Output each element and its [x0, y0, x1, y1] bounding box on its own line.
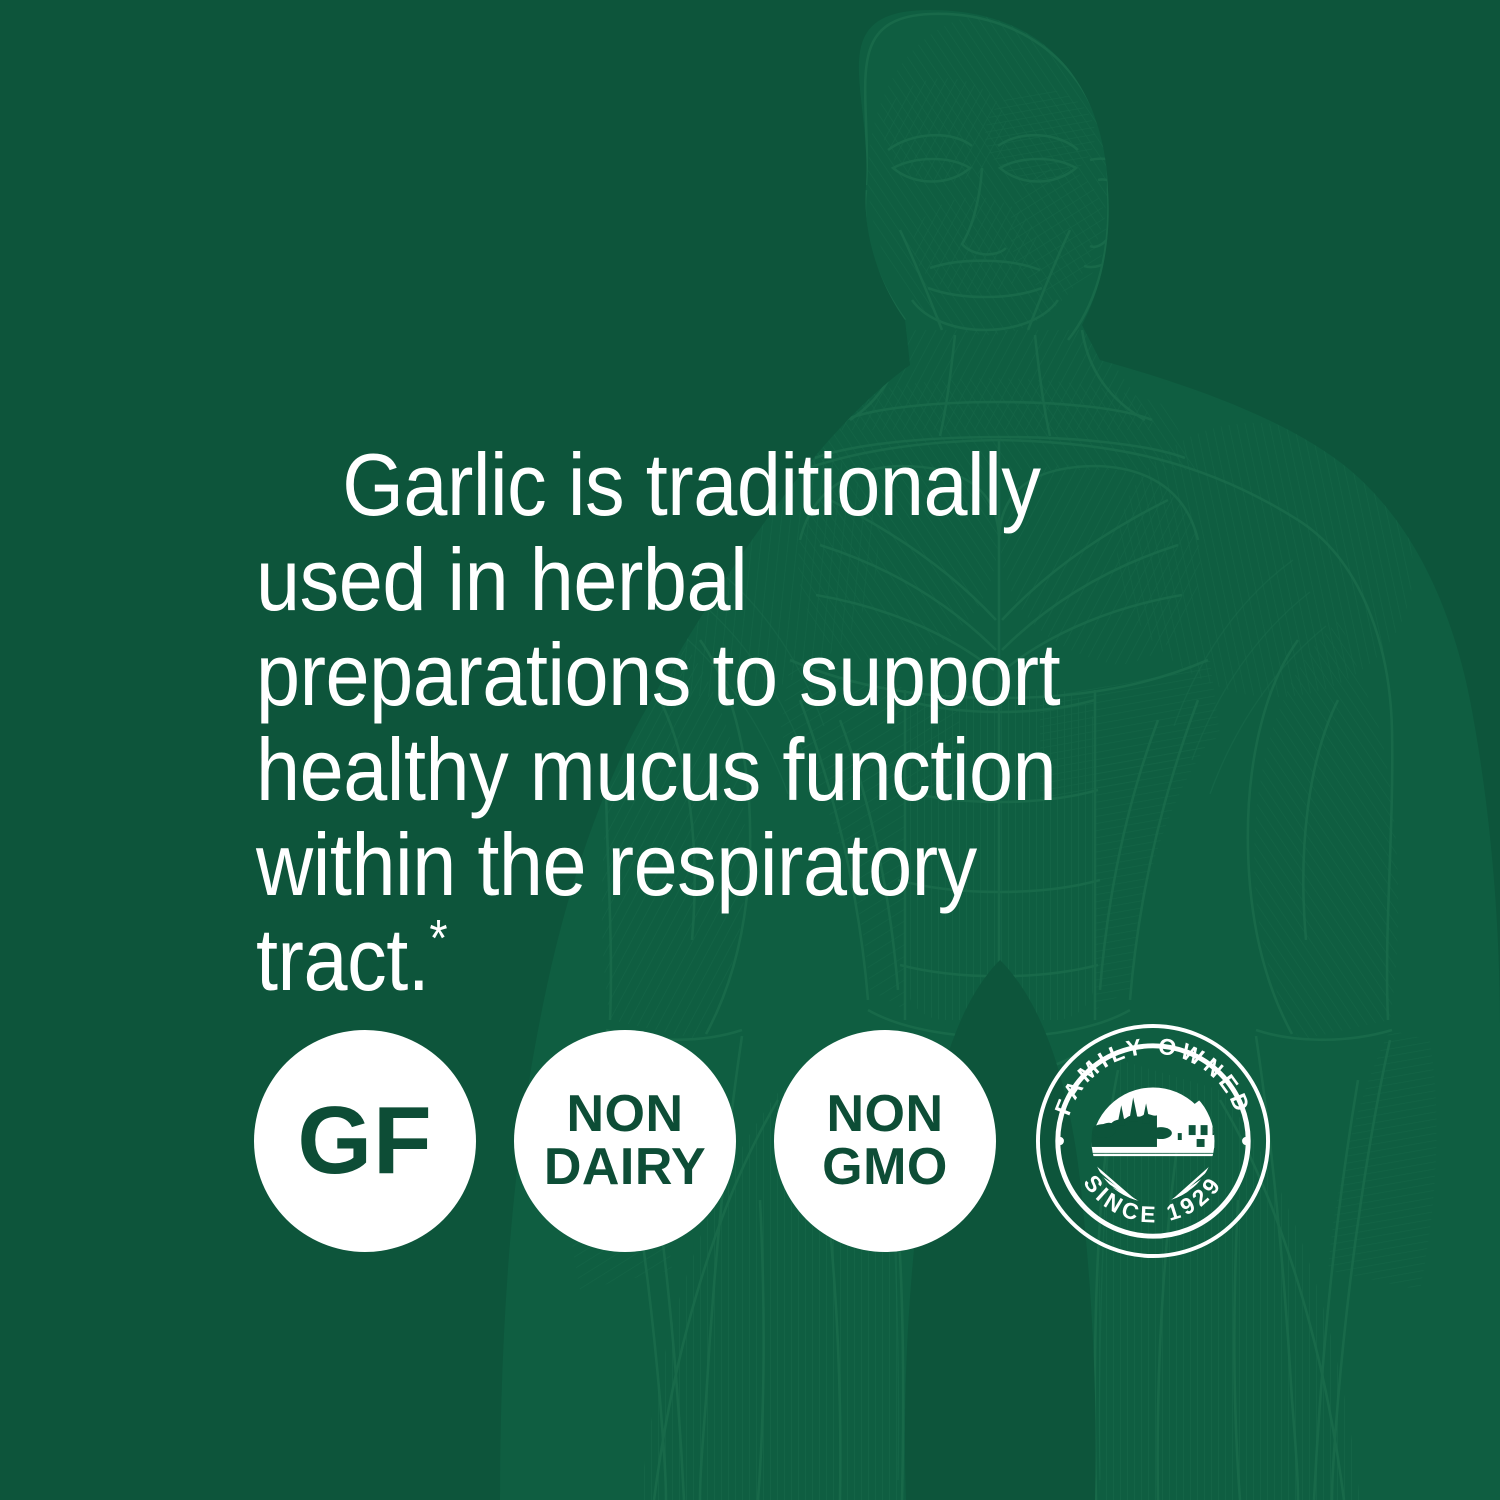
- footnote-asterisk: *: [429, 910, 447, 968]
- non-dairy-badge-line1: NON: [566, 1088, 683, 1141]
- gluten-free-badge-label: GF: [297, 1092, 432, 1190]
- family-owned-since-1929-seal-icon: FAMILY OWNED SINCE 1929: [1034, 1022, 1272, 1260]
- gluten-free-badge: GF: [254, 1030, 476, 1252]
- product-callout-panel: Garlic is traditionally used in herbal p…: [0, 0, 1500, 1500]
- headline-text: Garlic is traditionally used in herbal p…: [256, 342, 1165, 1102]
- non-gmo-badge: NON GMO: [774, 1030, 996, 1252]
- non-dairy-badge-line2: DAIRY: [544, 1141, 706, 1194]
- headline-body: Garlic is traditionally used in herbal p…: [256, 435, 1082, 1009]
- non-gmo-badge-line2: GMO: [822, 1141, 948, 1194]
- non-gmo-badge-line1: NON: [826, 1088, 943, 1141]
- certification-badge-row: GF NON DAIRY NON GMO FAMILY OWNE: [254, 1022, 1272, 1260]
- non-dairy-badge: NON DAIRY: [514, 1030, 736, 1252]
